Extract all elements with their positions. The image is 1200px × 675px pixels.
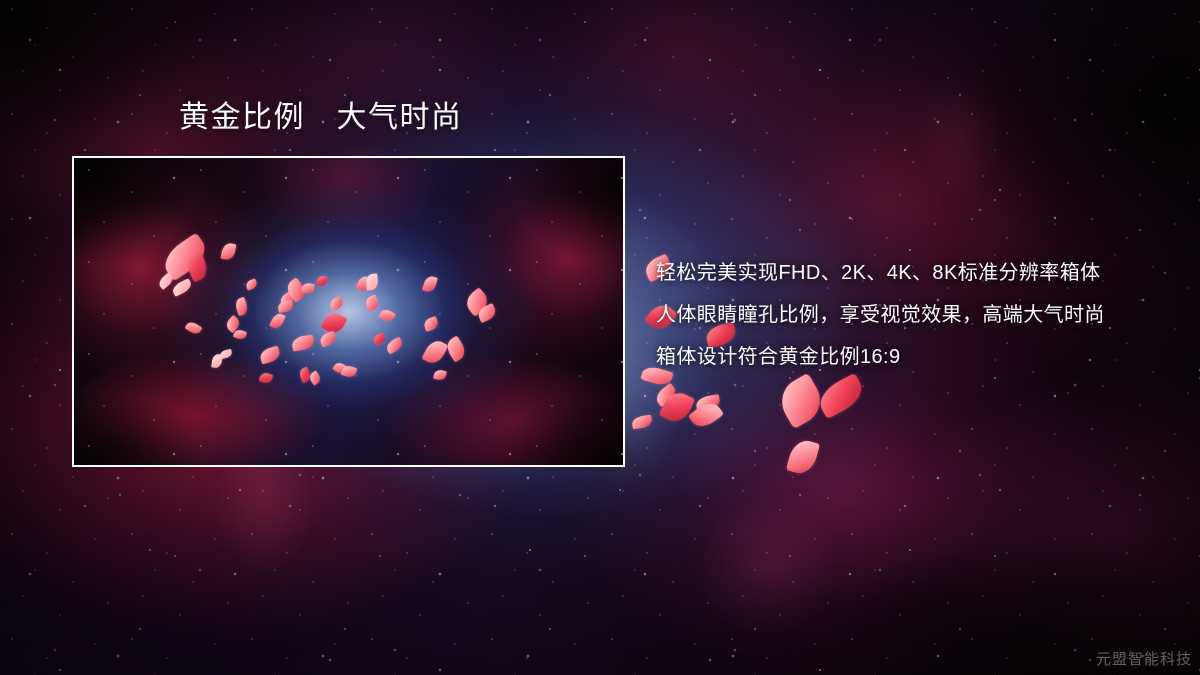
- background-petal: [786, 437, 820, 477]
- body-line: 轻松完美实现FHD、2K、4K、8K标准分辨率箱体: [656, 252, 1186, 294]
- body-line: 人体眼睛瞳孔比例，享受视觉效果，高端大气时尚: [656, 294, 1186, 336]
- preview-starfield: [74, 158, 623, 465]
- background-petal: [631, 415, 652, 430]
- background-petal: [814, 373, 868, 419]
- preview-image: [74, 158, 623, 465]
- watermark: 元盟智能科技: [1096, 648, 1192, 669]
- preview-image-frame: [72, 156, 625, 467]
- presentation-slide: 黄金比例 大气时尚: [0, 0, 1200, 675]
- body-text-block: 轻松完美实现FHD、2K、4K、8K标准分辨率箱体 人体眼睛瞳孔比例，享受视觉效…: [656, 252, 1186, 378]
- body-line: 箱体设计符合黄金比例16:9: [656, 336, 1186, 378]
- page-title: 黄金比例 大气时尚: [179, 101, 463, 134]
